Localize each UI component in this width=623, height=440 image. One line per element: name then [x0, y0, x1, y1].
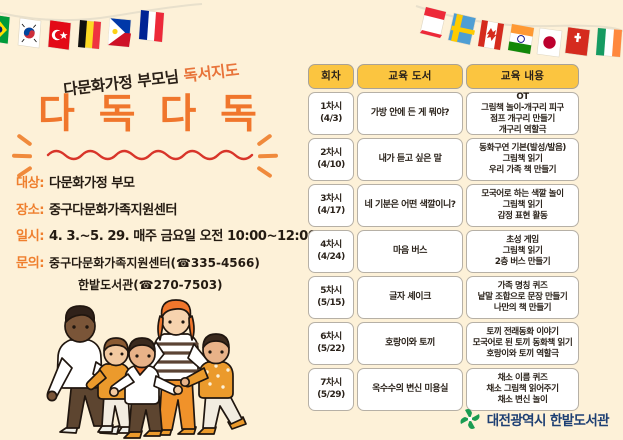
- flag-ireland: [596, 28, 622, 57]
- info-list: 대상: 다문화가정 부모 장소: 중구다문화가족지원센터 일시: 4. 3.~5…: [16, 172, 308, 301]
- flag-south-korea: [18, 18, 41, 48]
- info-row-datetime: 일시: 4. 3.~5. 29. 매주 금요일 오전 10:00~12:00: [16, 225, 308, 244]
- pinwheel-icon: [459, 408, 481, 430]
- table-row: 7차시(5/29) 옥수수의 변신 미용실 채소 이름 퀴즈채소 그림책 읽어주…: [308, 368, 582, 411]
- header-book: 교육 도서: [357, 64, 463, 89]
- info-value-contact: 중구다문화가족지원센터(☎335-4566): [49, 254, 260, 271]
- poster-root: 다문화가정 부모님 독서지도 다 독 다 독 대상: 다문화가정 부모 장소: …: [0, 0, 623, 440]
- cell-session: 1차시(4/3): [308, 92, 354, 135]
- cell-content: 동화구연 기본(발성/발음)그림책 읽기우리 가족 책 만들기: [466, 138, 579, 181]
- info-value-datetime: 4. 3.~5. 29. 매주 금요일 오전 10:00~12:00: [49, 225, 316, 244]
- cell-session: 4차시(4/24): [308, 230, 354, 273]
- table-row: 6차시(5/22) 호랑이와 토끼 토끼 전래동화 이야기모국어로 된 토끼 동…: [308, 322, 582, 365]
- info-label-datetime: 일시:: [16, 225, 44, 244]
- cell-book: 마음 버스: [357, 230, 463, 273]
- footer-logo: 대전광역시 한밭도서관: [459, 408, 609, 430]
- cell-session: 6차시(5/22): [308, 322, 354, 365]
- info-label-target: 대상:: [16, 172, 44, 191]
- flag-switzerland: [565, 27, 590, 56]
- cell-session: 5차시(5/15): [308, 276, 354, 319]
- table-header-row: 회차 교육 도서 교육 내용: [308, 64, 582, 89]
- info-label-contact: 문의:: [16, 252, 44, 271]
- family-illustration: [36, 296, 288, 440]
- cell-session: 2차시(4/10): [308, 138, 354, 181]
- flag-belgium: [78, 20, 101, 49]
- header-session: 회차: [308, 64, 354, 89]
- flag-japan: [537, 28, 562, 57]
- table-row: 4차시(4/24) 마음 버스 초성 게임그림책 읽기2층 버스 만들기: [308, 230, 582, 273]
- cell-book: 호랑이와 토끼: [357, 322, 463, 365]
- info-row-place: 장소: 중구다문화가족지원센터: [16, 199, 308, 218]
- info-label-place: 장소:: [16, 199, 44, 218]
- schedule-table: 회차 교육 도서 교육 내용 1차시(4/3) 가방 안에 든 게 뭐야? OT…: [308, 64, 582, 414]
- cell-session: 3차시(4/17): [308, 184, 354, 227]
- info-row-contact: 문의: 중구다문화가족지원센터(☎335-4566): [16, 252, 308, 271]
- cell-book: 옥수수의 변신 미용실: [357, 368, 463, 411]
- flag-brazil: [0, 14, 10, 44]
- table-row: 5차시(5/15) 글자 셰이크 가족 명칭 퀴즈낱말 조합으로 문장 만들기나…: [308, 276, 582, 319]
- cell-book: 글자 셰이크: [357, 276, 463, 319]
- cell-content: 초성 게임그림책 읽기2층 버스 만들기: [466, 230, 579, 273]
- flag-canada: [478, 20, 504, 50]
- poster-title: 다 독 다 독: [30, 94, 270, 134]
- table-row: 1차시(4/3) 가방 안에 든 게 뭐야? OT그림책 놀이-개구리 피구점프…: [308, 92, 582, 135]
- table-row: 2차시(4/10) 내가 듣고 싶은 말 동화구연 기본(발성/발음)그림책 읽…: [308, 138, 582, 181]
- flag-philippines: [108, 18, 131, 47]
- cell-book: 가방 안에 든 게 뭐야?: [357, 92, 463, 135]
- cell-content: 가족 명칭 퀴즈낱말 조합으로 문장 만들기나만의 책 만들기: [466, 276, 579, 319]
- cell-content: 채소 이름 퀴즈채소 그림책 읽어주기채소 변신 놀이: [466, 368, 579, 411]
- title-wave-underline: [46, 146, 258, 162]
- flag-turkey: [48, 20, 71, 50]
- info-value-target: 다문화가정 부모: [49, 172, 135, 191]
- header-content: 교육 내용: [466, 64, 579, 89]
- info-value-contact-secondary: 한밭도서관(☎270-7503): [78, 276, 223, 293]
- logo-text: 대전광역시 한밭도서관: [487, 409, 609, 429]
- cell-content: 토끼 전래동화 이야기모국어로 된 토끼 동화책 읽기호랑이와 토끼 역할극: [466, 322, 579, 365]
- table-row: 3차시(4/17) 네 기분은 어떤 색깔이니? 모국어로 하는 색깔 놀이그림…: [308, 184, 582, 227]
- cell-content: 모국어로 하는 색깔 놀이그림책 읽기감정 표현 활동: [466, 184, 579, 227]
- cell-book: 내가 듣고 싶은 말: [357, 138, 463, 181]
- flag-austria: [420, 7, 446, 38]
- flag-france: [139, 10, 164, 42]
- info-value-place: 중구다문화가족지원센터: [49, 199, 177, 218]
- cell-session: 7차시(5/29): [308, 368, 354, 411]
- subtitle-accent: 독서지도: [183, 61, 240, 85]
- bunting-flags-right: [412, 0, 623, 62]
- info-row-contact-secondary: 한밭도서관(☎270-7503): [78, 276, 308, 293]
- flag-india: [508, 24, 534, 54]
- flag-sweden: [448, 13, 476, 45]
- bunting-flags-left: [0, 0, 204, 62]
- info-row-target: 대상: 다문화가정 부모: [16, 172, 308, 191]
- cell-book: 네 기분은 어떤 색깔이니?: [357, 184, 463, 227]
- cell-content: OT그림책 놀이-개구리 피구점프 개구리 만들기개구리 역할극: [466, 92, 579, 135]
